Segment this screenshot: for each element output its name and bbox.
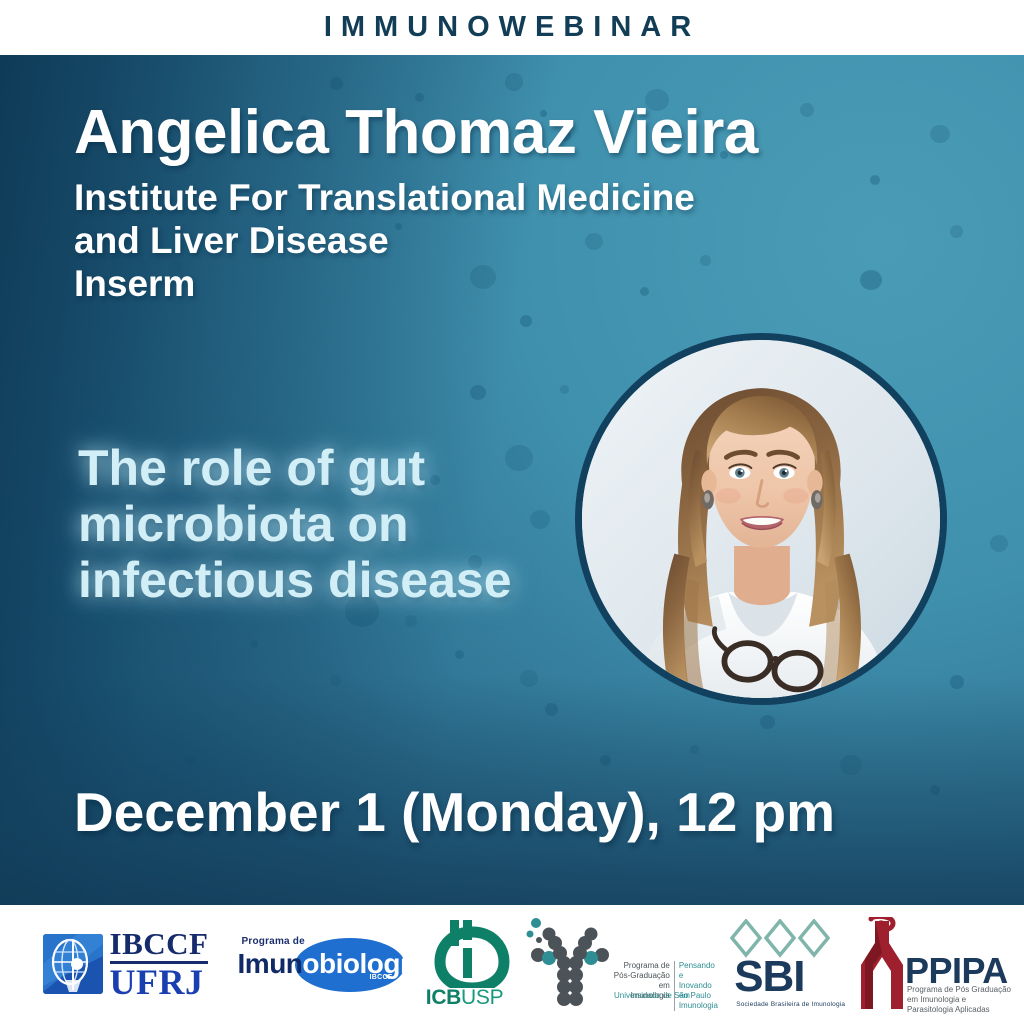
logo-usp-imunologia: Programa de Pós-Graduação em Imunologia … — [522, 905, 721, 1024]
logo-ppipa: PPIPA Programa de Pós Graduação em Imuno… — [850, 905, 1024, 1024]
usp-university-label: Universidade de São Paulo — [614, 991, 711, 1000]
usp-column-right: Pensando e Inovando em Imunologia — [674, 961, 720, 1011]
sponsor-logo-strip: IBCCF UFRJ Programa de Imunobiologia IBC… — [0, 905, 1024, 1024]
speaker-block: Angelica Thomaz Vieira Institute For Tra… — [74, 101, 974, 305]
affiliation-line-1: Institute For Translational Medicine — [74, 177, 974, 220]
ppipa-subtitle: Programa de Pós Graduação em Imunologia … — [907, 985, 1011, 1016]
event-date-time: December 1 (Monday), 12 pm — [74, 780, 974, 844]
ibccf-line-2: UFRJ — [110, 965, 209, 1000]
portrait-illustration — [582, 340, 940, 698]
icb-usp-wordmark: ICBUSP — [426, 986, 504, 1010]
logo-sbi: SBI Sociedade Brasileira de Imunologia — [721, 905, 850, 1024]
usp-light: USP — [461, 986, 503, 1009]
speaker-name: Angelica Thomaz Vieira — [74, 101, 974, 165]
poster-header: IMMUNOWEBINAR — [0, 0, 1024, 55]
ppipa-acronym: PPIPA — [905, 953, 1008, 989]
logo-ibccf-ufrj: IBCCF UFRJ — [26, 905, 225, 1024]
speaker-portrait — [575, 333, 947, 705]
affiliation-line-3: Inserm — [74, 263, 974, 306]
poster-banner: Angelica Thomaz Vieira Institute For Tra… — [0, 55, 1024, 905]
ibccf-wordmark: IBCCF UFRJ — [110, 929, 209, 999]
ibccf-line-1: IBCCF — [110, 929, 209, 959]
talk-title: The role of gut microbiota on infectious… — [78, 440, 518, 608]
ibccf-emblem-icon — [43, 934, 103, 994]
logo-imunobiologia: Programa de Imunobiologia IBCCF — [225, 905, 414, 1024]
webinar-poster: IMMUNOWEBINAR — [0, 0, 1024, 1024]
eyebrow-label: IMMUNOWEBINAR — [324, 11, 700, 44]
affiliation-line-2: and Liver Disease — [74, 220, 974, 263]
usp-program-text: Programa de Pós-Graduação em Imunologia … — [608, 961, 720, 1011]
ppipa-antibody-icon — [851, 917, 913, 1013]
imuno-part-1: Imun — [238, 948, 303, 979]
logo-icb-usp: ICBUSP — [414, 905, 521, 1024]
imunobiologia-badge: IBCCF — [370, 974, 393, 981]
icb-bold: ICB — [426, 986, 461, 1009]
imuno-part-2: o — [302, 948, 319, 979]
imunobiologia-wordmark: Imunobiologia — [238, 948, 423, 980]
sbi-subtitle: Sociedade Brasileira de Imunologia — [736, 1001, 845, 1008]
usp-column-left: Programa de Pós-Graduação em Imunologia — [608, 961, 670, 1011]
sbi-acronym: SBI — [734, 955, 804, 999]
imunobiologia-prefix: Programa de — [242, 936, 305, 947]
icb-usp-emblem-icon — [420, 918, 516, 988]
speaker-affiliation: Institute For Translational Medicine and… — [74, 177, 974, 305]
antibody-icon — [522, 917, 618, 1013]
